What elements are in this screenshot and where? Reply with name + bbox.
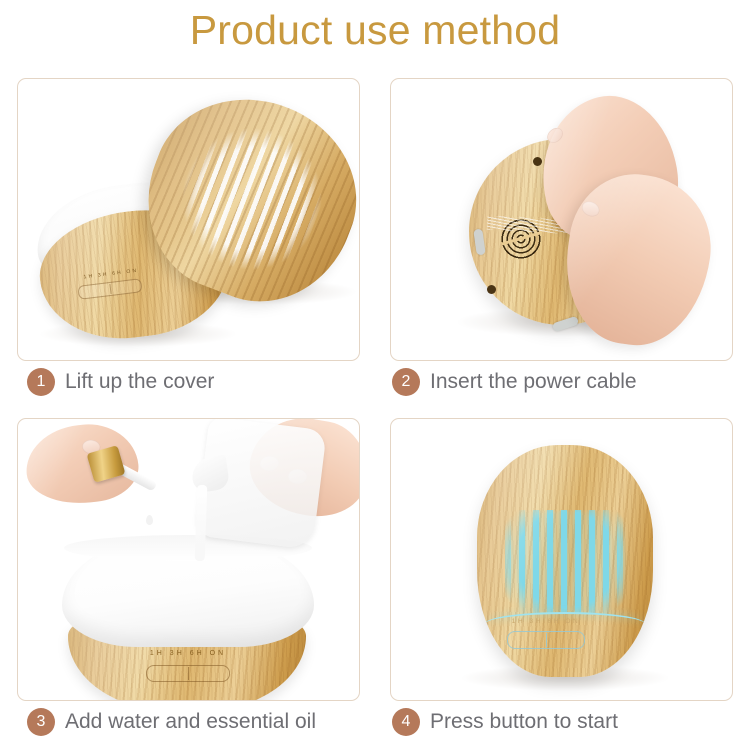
step-4-control-labels: 1H 3H 6H ON xyxy=(503,618,589,625)
rubber-foot xyxy=(487,285,496,294)
page-title: Product use method xyxy=(0,6,750,54)
product-instructions-page: Product use method 1H 3H 6H ON xyxy=(0,0,750,750)
control-button-panel[interactable] xyxy=(507,631,585,649)
step-2-caption: 2 Insert the power cable xyxy=(392,368,637,396)
steps-grid: 1H 3H 6H ON 1 Lift up the cover xyxy=(0,70,750,750)
step-4-illustration: 1H 3H 6H ON xyxy=(391,419,732,700)
oil-droplet xyxy=(146,515,153,525)
step-card-2: 2 Insert the power cable xyxy=(375,70,750,410)
glowing-vent-slots xyxy=(505,510,628,614)
fingernail xyxy=(579,199,601,219)
step-caption-text: Add water and essential oil xyxy=(65,710,316,734)
step-number-badge: 2 xyxy=(392,368,420,396)
rubber-foot xyxy=(533,157,542,166)
step-1-photo: 1H 3H 6H ON xyxy=(17,78,360,361)
step-caption-text: Insert the power cable xyxy=(430,370,637,394)
step-card-1: 1H 3H 6H ON 1 Lift up the cover xyxy=(0,70,375,410)
step-3-illustration: 1H 3H 6H ON xyxy=(18,419,359,700)
step-card-4: 1H 3H 6H ON 4 Press button to start xyxy=(375,410,750,750)
step-2-photo xyxy=(390,78,733,361)
step-number-badge: 1 xyxy=(27,368,55,396)
step-3-photo: 1H 3H 6H ON xyxy=(17,418,360,701)
step-1-caption: 1 Lift up the cover xyxy=(27,368,214,396)
step-caption-text: Press button to start xyxy=(430,710,618,734)
step-3-control-labels: 1H 3H 6H ON xyxy=(142,650,234,657)
step-card-3: 1H 3H 6H ON xyxy=(0,410,375,750)
step-caption-text: Lift up the cover xyxy=(65,370,214,394)
step-4-caption: 4 Press button to start xyxy=(392,708,618,736)
control-button-panel xyxy=(146,665,230,682)
step-number-badge: 4 xyxy=(392,708,420,736)
step-number-badge: 3 xyxy=(27,708,55,736)
step-4-photo: 1H 3H 6H ON xyxy=(390,418,733,701)
step-2-illustration xyxy=(391,79,732,360)
step-1-illustration: 1H 3H 6H ON xyxy=(18,79,359,360)
step-3-caption: 3 Add water and essential oil xyxy=(27,708,316,736)
